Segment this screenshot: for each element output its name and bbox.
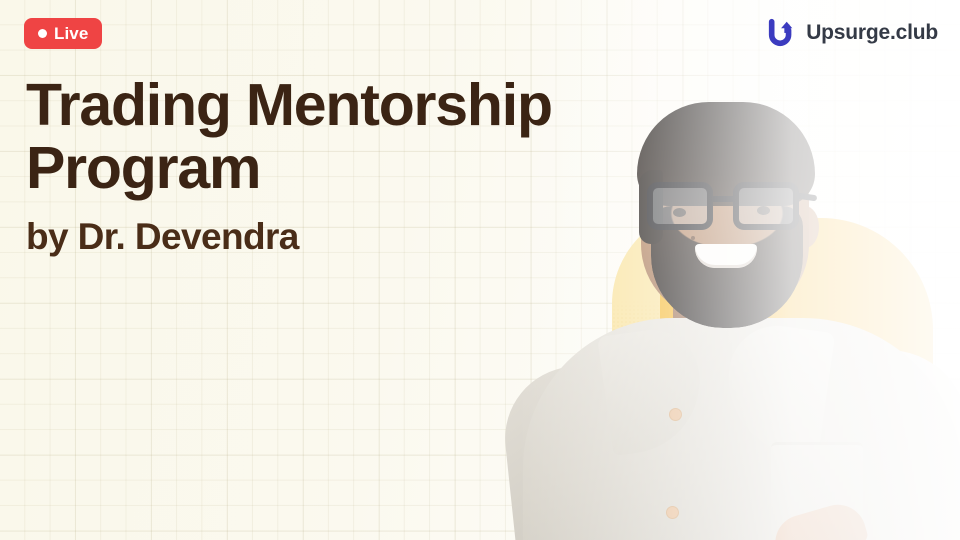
headline-block: Trading Mentorship Program by Dr. Devend… <box>26 74 646 258</box>
live-webinar-banner: Live Upsurge.club Trading Mentorship Pro… <box>0 0 960 540</box>
page-title: Trading Mentorship Program <box>26 74 646 199</box>
brand-logo-text: Upsurge.club <box>806 22 938 43</box>
brand-logo[interactable]: Upsurge.club <box>767 17 938 47</box>
live-status-badge[interactable]: Live <box>24 18 102 49</box>
headline-line-1: Trading Mentorship <box>26 74 646 137</box>
live-dot-icon <box>38 29 47 38</box>
upsurge-arrow-logo-icon <box>767 17 797 47</box>
headline-line-2: Program <box>26 137 646 200</box>
live-badge-label: Live <box>54 25 88 42</box>
presenter-name: by Dr. Devendra <box>26 217 646 258</box>
